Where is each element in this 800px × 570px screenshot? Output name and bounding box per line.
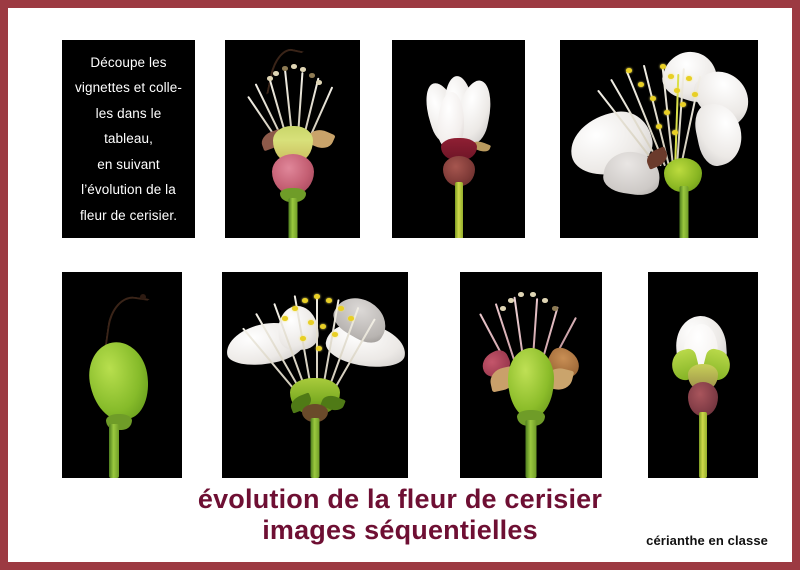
fruit-forming-illustration xyxy=(460,272,602,478)
panel-opening-bud xyxy=(392,40,525,238)
panel-young-fruit xyxy=(62,272,182,478)
panel-open-blossom-side xyxy=(560,40,758,238)
panel-fruit-forming xyxy=(460,272,602,478)
young-fruit-illustration xyxy=(62,272,182,478)
title-line-1: évolution de la fleur de cerisier xyxy=(10,484,790,515)
opening-bud-illustration xyxy=(392,40,525,238)
open-blossom-illustration xyxy=(560,40,758,238)
faded-flower-illustration xyxy=(225,40,360,238)
instructions-text: Découpe les vignettes et colle- les dans… xyxy=(62,50,195,229)
credit-text: cérianthe en classe xyxy=(646,533,768,548)
panel-instructions: Découpe les vignettes et colle- les dans… xyxy=(62,40,195,238)
poster-sheet: Découpe les vignettes et colle- les dans… xyxy=(8,8,792,562)
poster: Découpe les vignettes et colle- les dans… xyxy=(0,0,800,570)
full-bloom-illustration xyxy=(222,272,408,478)
panel-full-bloom xyxy=(222,272,408,478)
panel-closed-bud xyxy=(648,272,758,478)
panel-faded-flower xyxy=(225,40,360,238)
closed-bud-illustration xyxy=(648,272,758,478)
